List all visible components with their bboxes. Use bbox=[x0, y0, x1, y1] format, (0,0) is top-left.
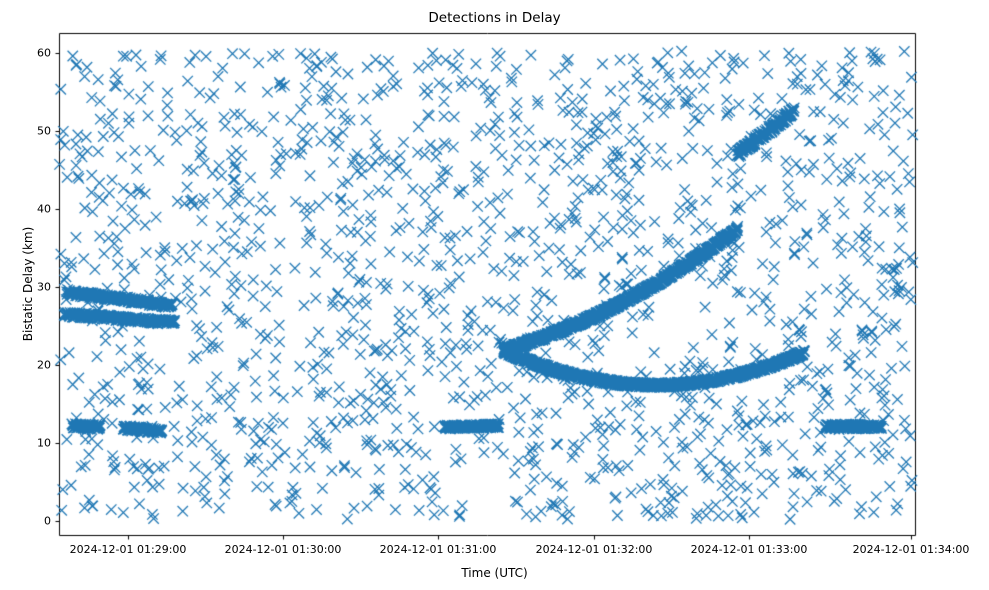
scatter-plot-canvas bbox=[0, 0, 989, 590]
chart-figure: Detections in Delay Time (UTC) Bistatic … bbox=[0, 0, 989, 590]
